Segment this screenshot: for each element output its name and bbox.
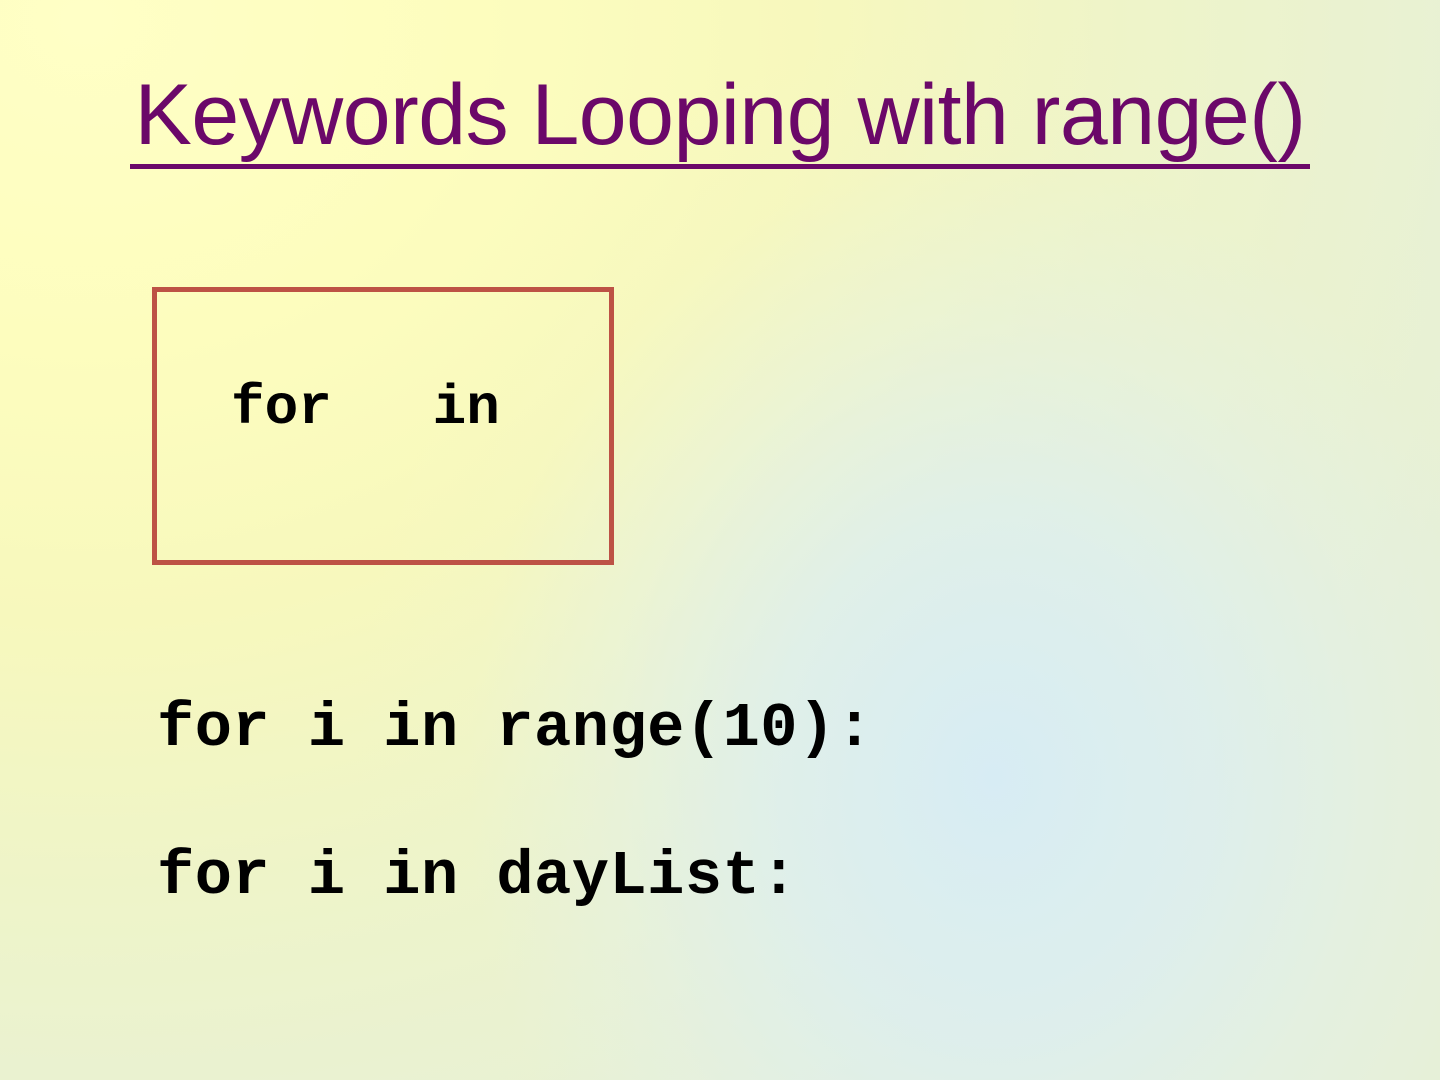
keyword-box-label: for in (231, 380, 500, 436)
slide-title-block: Keywords Looping with range() (0, 72, 1440, 169)
keyword-callout-box: for in (152, 287, 614, 565)
code-line-daylist: for i in dayList: (157, 846, 873, 908)
code-example-list: for i in range(10): for i in dayList: (157, 698, 873, 908)
page-title: Keywords Looping with range() (130, 72, 1309, 169)
code-line-range: for i in range(10): (157, 698, 873, 760)
presentation-slide: Keywords Looping with range() for in for… (0, 0, 1440, 1080)
